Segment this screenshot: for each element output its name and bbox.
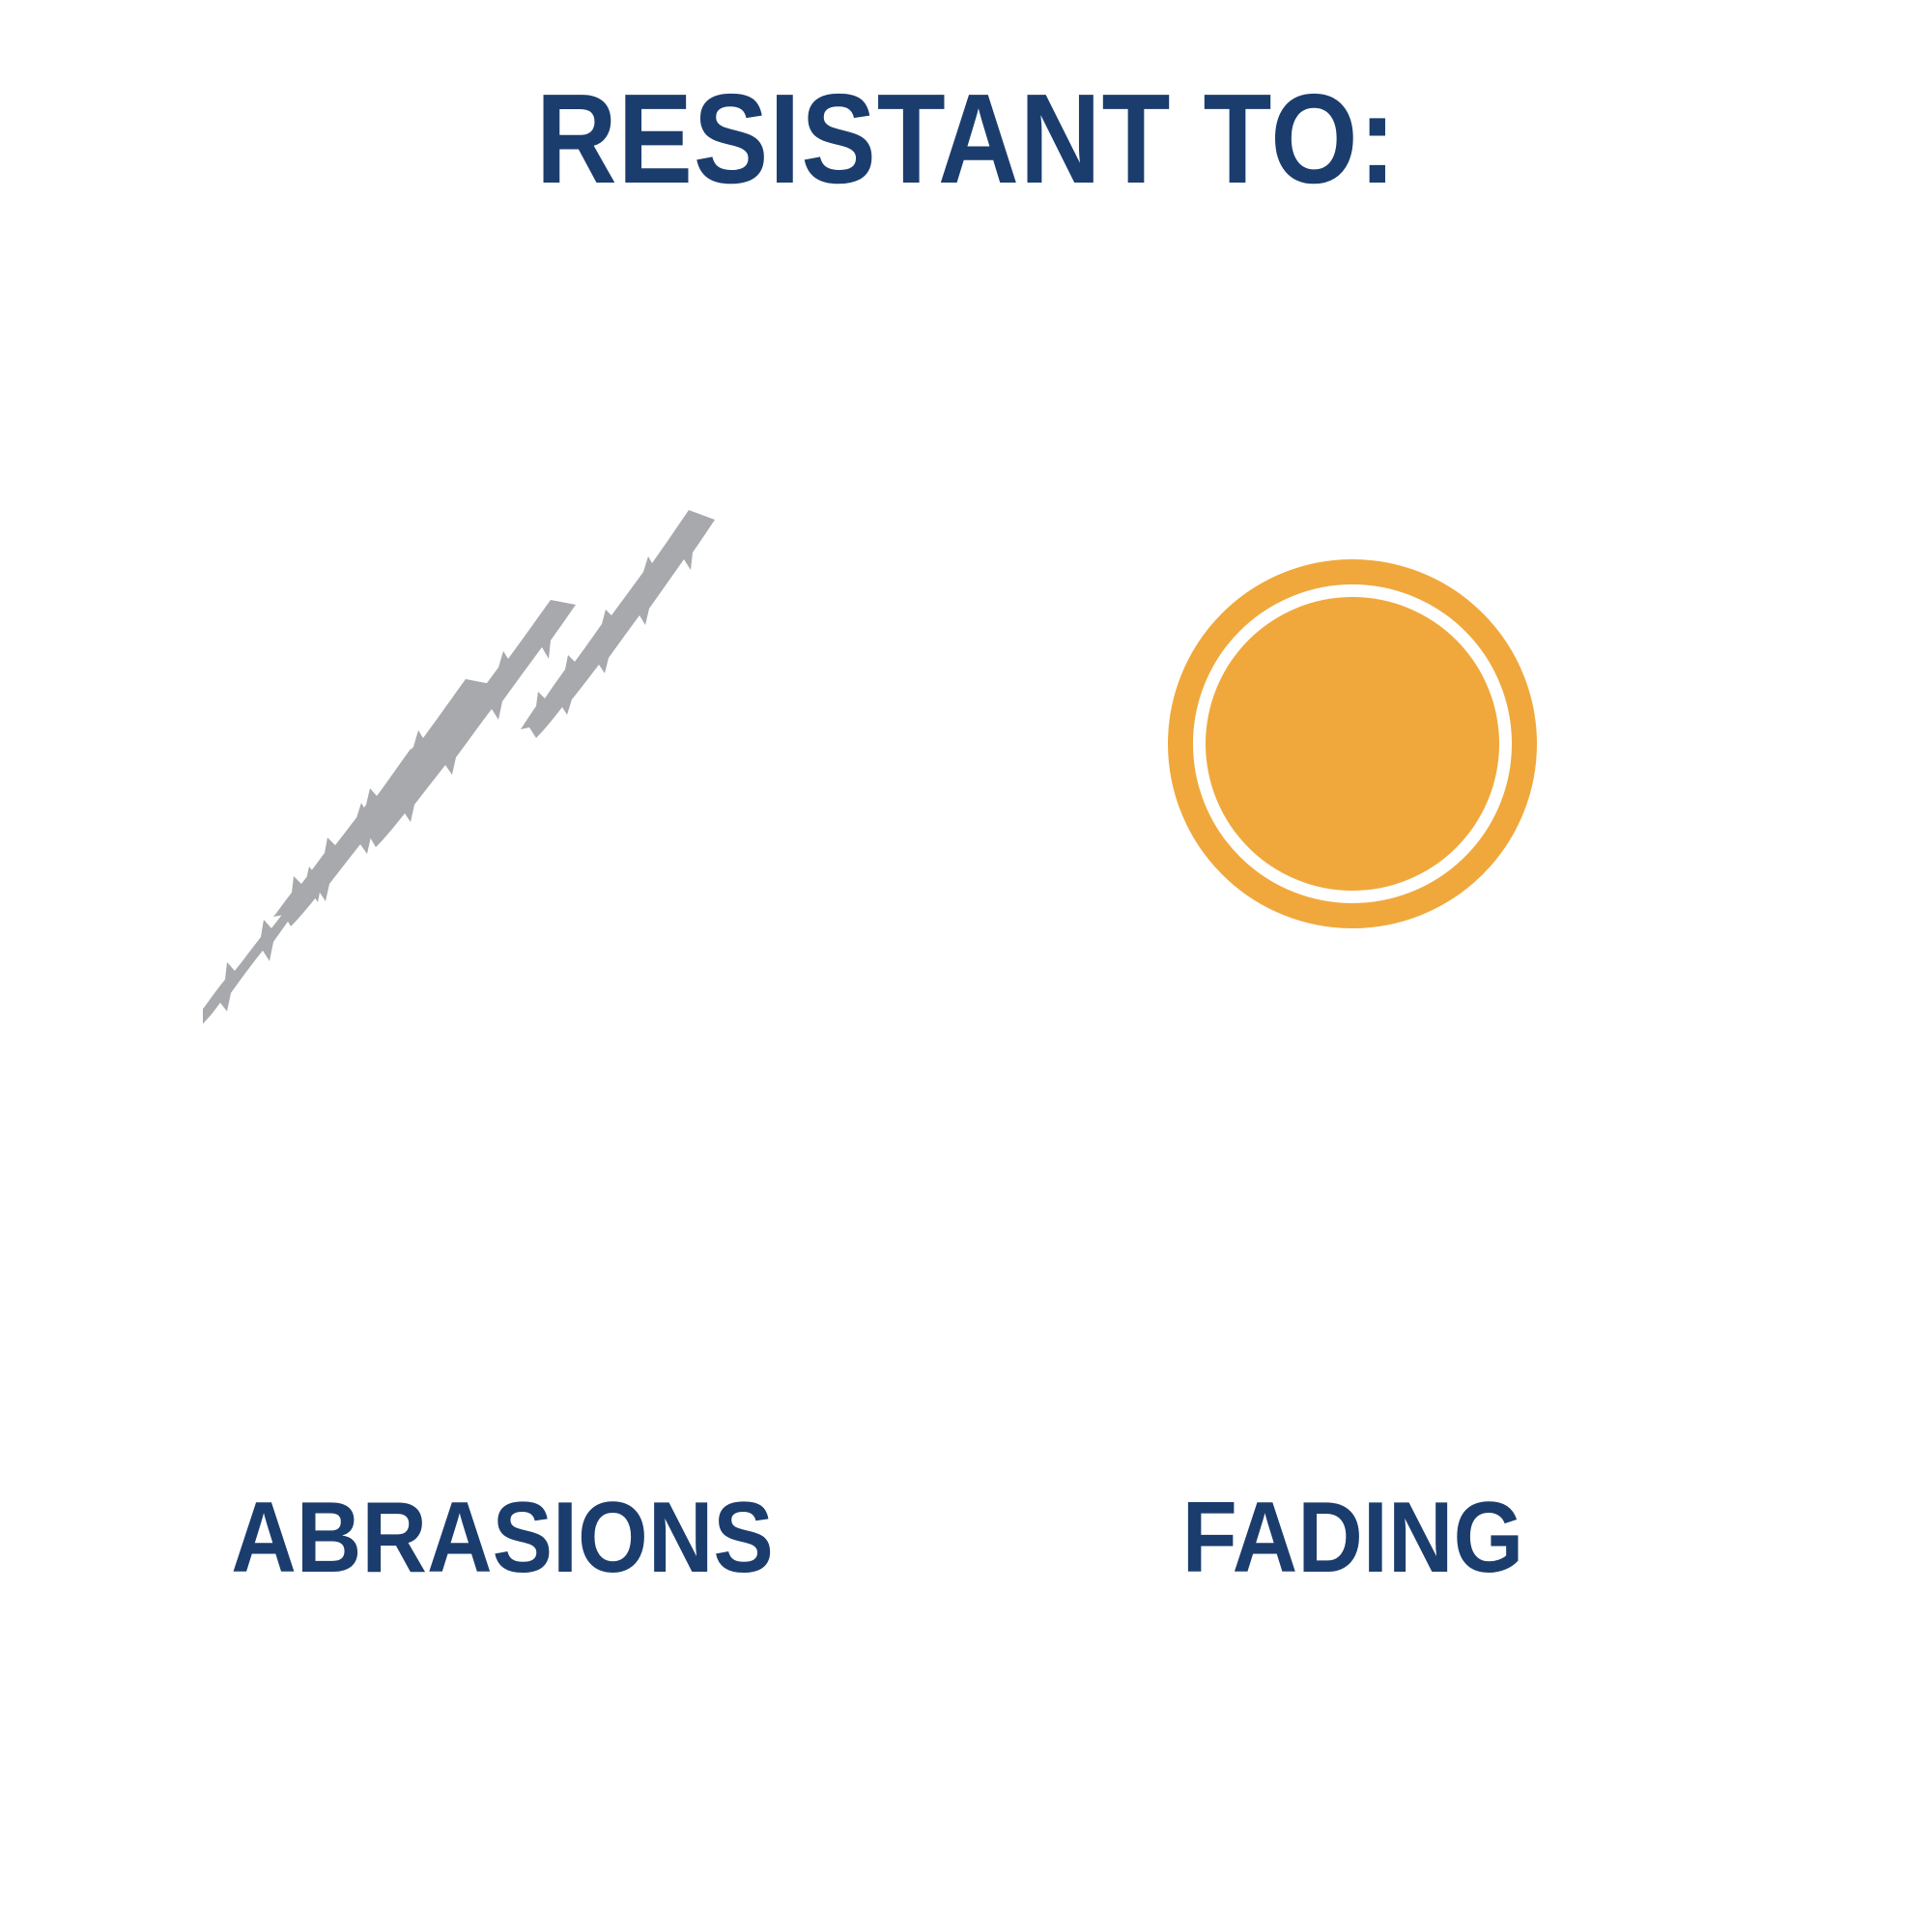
claw-marks-icon [203,444,802,1043]
caption-row: ABRASIONS FADING [0,1488,1932,1623]
abrasions-caption-cell: ABRASIONS [135,1488,869,1623]
page-title: RESISTANT TO: [535,75,1396,203]
abrasions-icon-cell [135,406,869,1082]
poster-canvas: RESISTANT TO: [0,0,1932,1932]
sun-disc [1206,597,1499,891]
fading-caption-cell: FADING [985,1488,1719,1623]
fading-label: FADING [1181,1488,1523,1588]
icon-row [0,406,1932,1082]
page-title-container: RESISTANT TO: [0,75,1932,203]
abrasions-label: ABRASIONS [231,1488,774,1588]
fading-icon-cell [985,406,1719,1082]
sun-icon [1014,406,1690,1082]
